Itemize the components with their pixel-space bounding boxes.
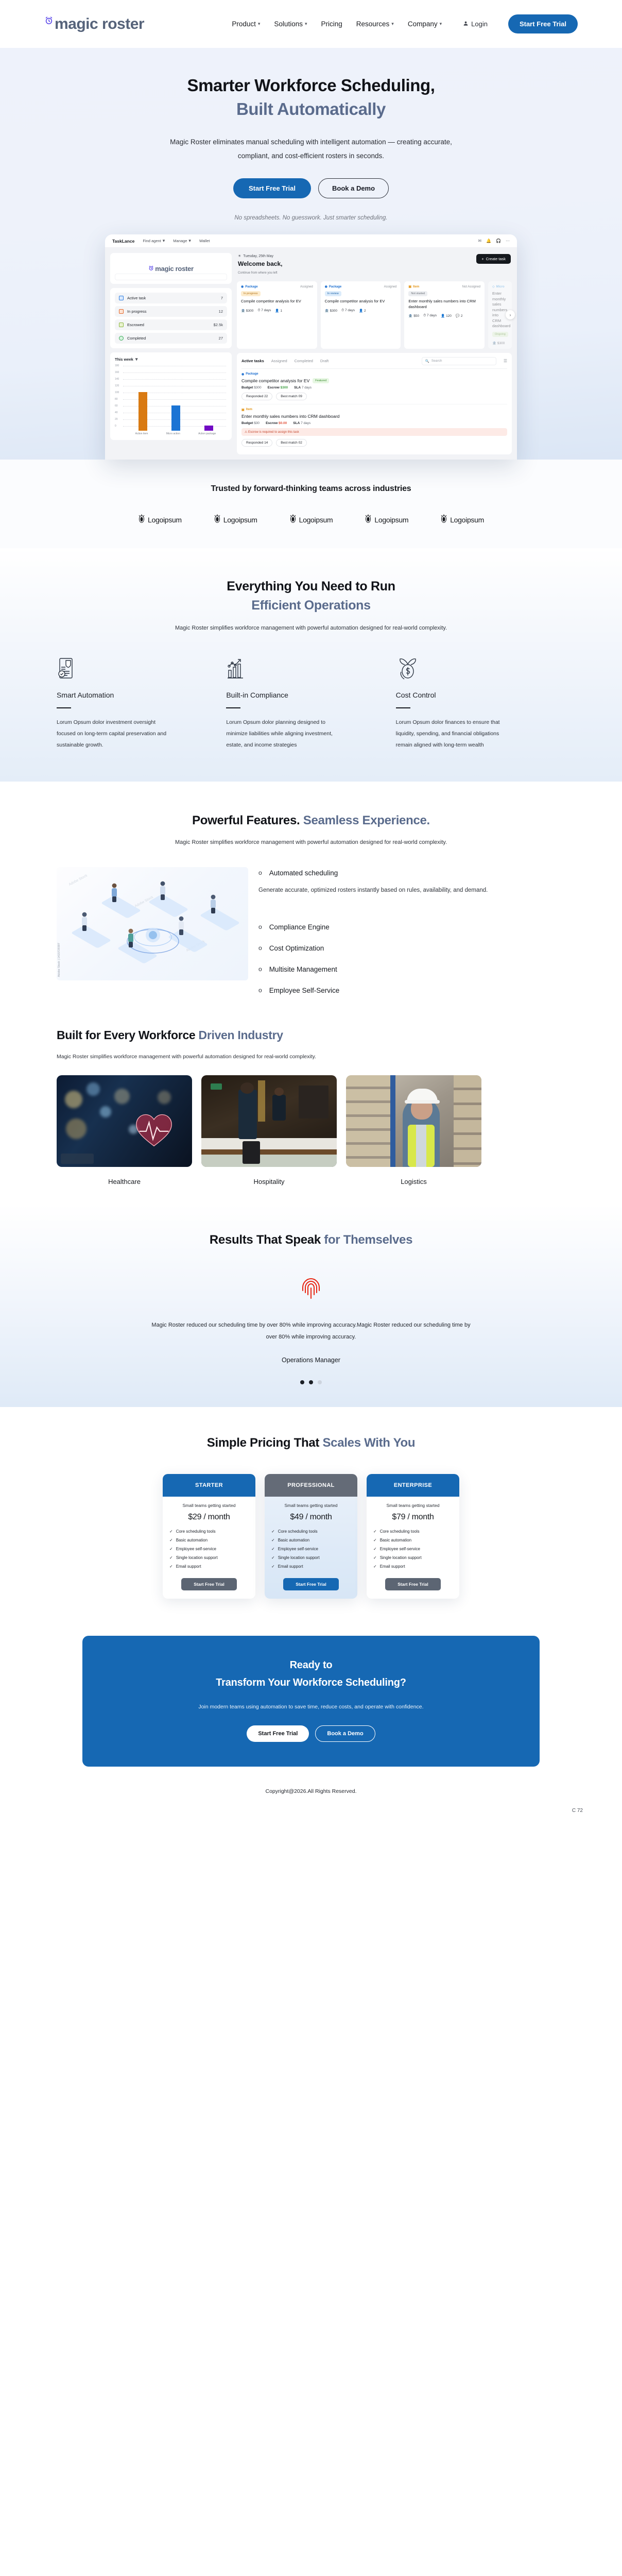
stat-value: 12 — [219, 309, 223, 314]
cta-banner: Ready to Transform Your Workforce Schedu… — [82, 1636, 540, 1767]
cta-wrapper: Ready to Transform Your Workforce Schedu… — [0, 1622, 622, 1767]
x-tick: Micro action — [166, 432, 180, 435]
logo-label: Logoipsum — [374, 516, 408, 524]
dashboard-preview: TaskLance Find agent ▾ Manage ▾ Wallet ✉… — [0, 234, 622, 460]
industries-subtitle: Magic Roster simplifies workforce manage… — [57, 1054, 565, 1060]
industry-card-healthcare[interactable]: Healthcare — [57, 1075, 192, 1185]
plan-tagline: Small teams getting started — [373, 1503, 453, 1508]
escrow-warning: ⚠ Escrow is required to assign this task — [241, 428, 507, 436]
task-type: ◉ Package — [241, 285, 258, 289]
plan-price: $29 / month — [169, 1513, 249, 1522]
feature-title: Cost Control — [396, 691, 565, 699]
feature-label: Automated scheduling — [269, 869, 338, 877]
list-item: ✓Core scheduling tools — [271, 1529, 351, 1534]
money-plant-icon — [396, 654, 565, 681]
powerful-subtitle: Magic Roster simplifies workforce manage… — [0, 839, 622, 845]
testimonial-title-accent: for Themselves — [324, 1233, 412, 1247]
watermark: Adobe Stock — [68, 874, 88, 887]
chevron-down-icon: ▾ — [391, 22, 394, 26]
dashboard-brand-card: magic roster — [110, 253, 232, 284]
bar-micro-action[interactable] — [171, 405, 180, 431]
logoipsum-mark-icon — [440, 514, 447, 526]
sla-value: 7 days — [301, 421, 310, 425]
task-title: Enter monthly sales numbers into CRM das… — [492, 291, 508, 329]
nav-label: Pricing — [321, 20, 342, 28]
nav-item-resources[interactable]: Resources ▾ — [356, 20, 394, 28]
feature-title: Smart Automation — [57, 691, 226, 699]
list-item: ✓Employee self-service — [169, 1547, 249, 1551]
budget-value: $300 — [254, 386, 261, 389]
plan-name: ENTERPRISE — [367, 1474, 459, 1497]
cta-start-trial-button[interactable]: Start Free Trial — [247, 1725, 309, 1742]
x-tick: Action item — [135, 432, 148, 435]
cta-title-line1: Ready to — [290, 1659, 333, 1671]
divider — [396, 707, 410, 708]
alarm-clock-icon — [44, 16, 54, 25]
task-sla: ⏱ 7 days — [257, 309, 271, 313]
task-card[interactable]: ◉ Package Assigned In review Compile com… — [321, 281, 401, 349]
hero-title-line1: Smarter Workforce Scheduling, — [187, 76, 435, 95]
escrow-value: $0.00 — [279, 421, 287, 425]
task-people: 👤 1 — [275, 309, 282, 313]
chevron-down-icon: ▾ — [163, 239, 165, 243]
feature-text: Lorum Opsum dolor planning designed to m… — [226, 717, 337, 751]
continue-label: Continue from where you left — [238, 272, 511, 275]
list-item: ✓Email support — [373, 1564, 453, 1569]
person-figure — [109, 883, 119, 903]
copyright-text: Copyright@2026.All Rights Reserved. — [0, 1788, 622, 1794]
stat-row-escrowed[interactable]: Escrowed $2.5k — [115, 319, 227, 330]
filter-icon[interactable]: ☰ — [504, 359, 507, 363]
list-item: ✓Email support — [169, 1564, 249, 1569]
corner-tag: C 72 — [0, 1794, 622, 1814]
circle-bullet-icon: o — [258, 923, 262, 930]
list-item: ✓Core scheduling tools — [373, 1529, 453, 1534]
partner-logo: Logoipsum — [365, 514, 408, 526]
cta-book-demo-button[interactable]: Book a Demo — [315, 1725, 375, 1742]
item-icon: ▣ — [241, 408, 245, 412]
heart-ecg-icon — [134, 1111, 174, 1147]
logistics-image — [346, 1075, 481, 1167]
hospitality-image — [201, 1075, 337, 1167]
circle-bullet-icon: o — [258, 987, 262, 994]
dashboard-nav-find-agent[interactable]: Find agent ▾ — [143, 239, 165, 243]
site-header: magic roster Product ▾ Solutions ▾ Prici… — [0, 0, 622, 48]
task-title: Compile competitor analysis for EV — [241, 299, 313, 304]
partner-logo: Logoipsum — [440, 514, 484, 526]
list-item: ✓Single location support — [169, 1555, 249, 1560]
list-item[interactable]: o Multisite Management — [258, 965, 565, 973]
carousel-dot-2[interactable] — [309, 1380, 313, 1384]
task-meta: Budget $30 Escrow $0.00 SLA 7 days — [241, 421, 507, 425]
sla-label: SLA — [293, 421, 300, 425]
table-row[interactable]: ▣ Item Enter monthly sales numbers into … — [241, 404, 507, 450]
pricing-card-professional: PROFESSIONAL Small teams getting started… — [265, 1474, 357, 1599]
partner-logo: Logoipsum — [138, 514, 182, 526]
budget-value: $30 — [254, 421, 260, 425]
hero-title-line2: Built Automatically — [236, 99, 386, 118]
plan-cta-button[interactable]: Start Free Trial — [181, 1578, 237, 1590]
person-figure — [126, 928, 136, 948]
user-icon — [463, 20, 469, 28]
best-match-button[interactable]: Best match 02 — [276, 439, 307, 447]
hero-book-demo-button[interactable]: Book a Demo — [318, 178, 389, 198]
industry-card-logistics[interactable]: Logistics — [346, 1075, 481, 1185]
features-title-line1: Everything You Need to Run — [227, 579, 395, 594]
features-title: Everything You Need to Run Efficient Ope… — [0, 577, 622, 616]
powerful-features-section: Powerful Features. Seamless Experience. … — [0, 782, 622, 1005]
task-assignment: Not Assigned — [462, 285, 480, 289]
industries-section: Built for Every Workforce Driven Industr… — [0, 1005, 622, 1204]
task-title: Compile competitor analysis for EV — [325, 299, 397, 304]
bank-icon — [119, 323, 124, 327]
site-footer: Copyright@2026.All Rights Reserved. C 72 — [0, 1767, 622, 1819]
y-tick: 40 — [115, 411, 118, 414]
hero-section: Smarter Workforce Scheduling, Built Auto… — [0, 48, 622, 460]
date-text: Tuesday, 25th May — [243, 255, 273, 258]
login-label: Login — [471, 20, 488, 28]
plan-tagline: Small teams getting started — [169, 1503, 249, 1508]
carousel-next-button[interactable]: › — [506, 310, 515, 319]
y-tick: 140 — [115, 378, 119, 381]
task-status-badge: In review — [325, 291, 341, 296]
brand-name: magic roster — [55, 16, 144, 32]
logo-label: Logoipsum — [223, 516, 257, 524]
task-comments: 💬 2 — [456, 314, 463, 318]
list-item: ✓Basic automation — [271, 1538, 351, 1543]
pricing-title: Simple Pricing That Scales With You — [0, 1434, 622, 1452]
fingerprint-icon — [301, 1277, 321, 1300]
industry-card-hospitality[interactable]: Hospitality — [201, 1075, 337, 1185]
headset-icon[interactable]: 🎧 — [496, 239, 501, 243]
main-nav: Product ▾ Solutions ▾ Pricing Resources … — [232, 14, 578, 33]
task-type: ▣ Item — [408, 285, 419, 289]
list-item[interactable]: o Employee Self-Service — [258, 987, 565, 994]
divider — [226, 707, 240, 708]
task-budget: 🏦 $300 — [325, 309, 337, 313]
hero-cta-group: Start Free Trial Book a Demo — [0, 178, 622, 198]
task-budget: 🏦 $50 — [408, 314, 419, 318]
hero-title: Smarter Workforce Scheduling, Built Auto… — [0, 74, 622, 121]
nav-label: Solutions — [274, 20, 303, 28]
task-type: ▣ Item — [241, 408, 507, 412]
dashboard-brand-name: magic roster — [155, 265, 193, 273]
nav-item-product[interactable]: Product ▾ — [232, 20, 260, 28]
escrow-label: Escrow — [266, 421, 278, 425]
best-match-button[interactable]: Best match 09 — [276, 393, 307, 400]
list-item: ✓Employee self-service — [271, 1547, 351, 1551]
nav-label: Resources — [356, 20, 390, 28]
list-item: ✓Employee self-service — [373, 1547, 453, 1551]
stat-value: $2.5k — [214, 323, 223, 327]
check-circle-icon: ✓ — [169, 1529, 173, 1534]
testimonial-title-black: Results That Speak — [210, 1233, 321, 1247]
dashboard-right-column: ☀ Tuesday, 25th May Welcome back, + Crea… — [237, 253, 512, 454]
stat-value: 27 — [219, 336, 223, 341]
nav-label: Product — [232, 20, 256, 28]
carousel-dot-3[interactable] — [318, 1380, 322, 1384]
check-circle-icon: ✓ — [373, 1555, 377, 1560]
task-budget: 🏦 $300 — [241, 309, 253, 313]
responded-button[interactable]: Responded 14 — [241, 439, 272, 447]
dashboard-topbar-icons: ✉ 🔔 🎧 ⋯ — [478, 239, 510, 243]
industries-title-black: Built for Every Workforce — [57, 1028, 195, 1042]
dashboard-app-name: TaskLance — [112, 239, 134, 244]
search-icon: 🔍 — [425, 359, 429, 363]
circle-bullet-icon: o — [258, 869, 262, 876]
logoipsum-mark-icon — [289, 514, 297, 526]
illustration-credit: Adobe Stock | 1415729397 — [58, 943, 61, 977]
list-item[interactable]: o Compliance Engine — [258, 923, 565, 931]
search-placeholder: Search — [431, 359, 442, 363]
table-row[interactable]: ◉ Package Compile competitor analysis fo… — [241, 369, 507, 404]
plan-features: ✓Core scheduling tools ✓Basic automation… — [373, 1529, 453, 1569]
list-item[interactable]: o Automated scheduling — [258, 869, 565, 877]
cta-title: Ready to Transform Your Workforce Schedu… — [98, 1656, 524, 1691]
person-figure — [176, 916, 186, 936]
industries-title: Built for Every Workforce Driven Industr… — [57, 1028, 565, 1042]
plan-features: ✓Core scheduling tools ✓Basic automation… — [271, 1529, 351, 1569]
task-card[interactable]: ◉ Package Assigned In progress Compile c… — [237, 281, 317, 349]
testimonial-role: Operations Manager — [0, 1357, 622, 1364]
bar-action-item[interactable] — [139, 392, 147, 431]
list-item: ✓Email support — [271, 1564, 351, 1569]
create-task-label: Create task — [486, 257, 506, 261]
stat-label: Active task — [127, 296, 146, 300]
micro-icon: ◇ — [492, 285, 495, 289]
escrow-value: $300 — [281, 386, 288, 389]
features-title-line2: Efficient Operations — [251, 598, 371, 613]
dashboard-chart-card: This week ▾ 180 160 140 120 100 80 60 — [110, 352, 232, 440]
stat-value: 7 — [221, 296, 223, 300]
chevron-down-icon: ▾ — [188, 239, 191, 243]
stat-row-in-progress[interactable]: In progress 12 — [115, 306, 227, 317]
chart-range-label: This week — [115, 357, 133, 362]
testimonial-title: Results That Speak for Themselves — [0, 1231, 622, 1249]
hero-subtitle: Magic Roster eliminates manual schedulin… — [167, 135, 455, 163]
dashboard-body: magic roster Active task 7 — [105, 248, 517, 460]
create-task-button[interactable]: + Create task — [476, 254, 511, 264]
check-circle-icon: ✓ — [271, 1564, 275, 1569]
y-tick: 100 — [115, 391, 119, 394]
chevron-down-icon: ▾ — [258, 22, 261, 26]
plan-features: ✓Core scheduling tools ✓Basic automation… — [169, 1529, 249, 1569]
plan-cta-button[interactable]: Start Free Trial — [385, 1578, 441, 1590]
industry-label: Healthcare — [57, 1178, 192, 1185]
industries-row: Healthcare Hospitality — [0, 1060, 622, 1185]
testimonial-quote: Magic Roster reduced our scheduling time… — [151, 1319, 471, 1343]
y-tick: 0 — [115, 425, 116, 428]
logoipsum-mark-icon — [214, 514, 221, 526]
featured-badge: Featured — [313, 378, 329, 383]
list-item: ✓Core scheduling tools — [169, 1529, 249, 1534]
bar-chart-growth-icon — [226, 654, 395, 681]
feature-text: Lorum Opsum dolor finances to ensure tha… — [396, 717, 507, 751]
check-circle-icon: ✓ — [271, 1529, 275, 1534]
task-people: 👤 120 — [441, 314, 452, 318]
continue-task-carousel: ◉ Package Assigned In progress Compile c… — [237, 281, 512, 349]
plan-price: $79 / month — [373, 1513, 453, 1522]
trusted-by-title: Trusted by forward-thinking teams across… — [0, 484, 622, 494]
task-type: ◉ Package — [325, 285, 342, 289]
industries-title-accent: Driven Industry — [199, 1028, 283, 1042]
powerful-title: Powerful Features. Seamless Experience. — [0, 811, 622, 830]
bar-chart: 180 160 140 120 100 80 60 40 20 0 — [115, 365, 227, 431]
features-grid: Smart Automation Lorum Opsum dolor inves… — [0, 654, 622, 751]
logo-label: Logoipsum — [148, 516, 182, 524]
pricing-grid: STARTER Small teams getting started $29 … — [0, 1474, 622, 1599]
list-item: ✓Basic automation — [169, 1538, 249, 1543]
industry-label: Logistics — [346, 1178, 481, 1185]
brand-logo[interactable]: magic roster — [44, 16, 144, 32]
cta-title-line2: Transform Your Workforce Scheduling? — [216, 1677, 406, 1688]
circle-bullet-icon: o — [258, 944, 262, 952]
dashboard-stats-card: Active task 7 In progress 12 Escrowed — [110, 288, 232, 348]
powerful-title-black: Powerful Features. — [192, 814, 300, 827]
more-icon[interactable]: ⋯ — [506, 239, 510, 243]
dashboard-window: TaskLance Find agent ▾ Manage ▾ Wallet ✉… — [105, 234, 517, 460]
list-item: ✓Single location support — [373, 1555, 453, 1560]
nav-item-company[interactable]: Company ▾ — [408, 20, 442, 28]
isometric-team-illustration: Adobe Stock | 1415729397 Adobe Stock Ado… — [57, 867, 248, 980]
budget-label: Budget — [241, 386, 253, 389]
package-icon: ◉ — [241, 285, 244, 289]
in-progress-icon — [119, 309, 124, 314]
powerful-body: Adobe Stock | 1415729397 Adobe Stock Ado… — [0, 845, 622, 994]
carousel-dots — [0, 1380, 622, 1384]
pricing-card-starter: STARTER Small teams getting started $29 … — [163, 1474, 255, 1599]
feature-text: Lorum Opsum dolor investment oversight f… — [57, 717, 167, 751]
features-section: Everything You Need to Run Efficient Ope… — [0, 548, 622, 782]
tab-active-tasks[interactable]: Active tasks — [241, 359, 264, 363]
chart-bars — [126, 370, 225, 431]
logo-row: Logoipsum Logoipsum Logoipsum Logoipsum … — [0, 514, 622, 526]
cta-button-group: Start Free Trial Book a Demo — [98, 1725, 524, 1742]
carousel-dot-1[interactable] — [300, 1380, 304, 1384]
task-card[interactable]: ▣ Item Not Assigned Not started Enter mo… — [404, 281, 485, 349]
item-icon: ▣ — [408, 285, 411, 289]
feature-card-built-in-compliance: Built-in Compliance Lorum Opsum dolor pl… — [226, 654, 395, 751]
task-sla: ⏱ 7 days — [423, 314, 437, 318]
active-task-icon — [119, 296, 124, 300]
responded-button[interactable]: Responded 22 — [241, 393, 272, 400]
task-type: ◉ Package — [241, 372, 507, 376]
mail-icon[interactable]: ✉ — [478, 239, 481, 243]
testimonial-section: Results That Speak for Themselves Magic … — [0, 1204, 622, 1407]
stat-row-active-task[interactable]: Active task 7 — [115, 293, 227, 303]
dashboard-welcome: ☀ Tuesday, 25th May Welcome back, + Crea… — [237, 253, 512, 275]
partner-logo: Logoipsum — [289, 514, 333, 526]
healthcare-image — [57, 1075, 192, 1167]
nav-label: Find agent — [143, 239, 161, 243]
list-item[interactable]: o Cost Optimization — [258, 944, 565, 952]
dashboard-nav-manage[interactable]: Manage ▾ — [173, 239, 191, 243]
task-search-input[interactable]: 🔍 Search — [422, 357, 496, 365]
tab-completed[interactable]: Completed — [295, 359, 313, 363]
feature-title: Built-in Compliance — [226, 691, 395, 699]
y-tick: 80 — [115, 398, 118, 401]
check-circle-icon: ✓ — [271, 1555, 275, 1560]
tab-assigned[interactable]: Assigned — [271, 359, 287, 363]
sla-value: 7 days — [302, 386, 312, 389]
bell-icon[interactable]: 🔔 — [486, 239, 491, 243]
dashboard-welcome-title: Welcome back, — [238, 260, 282, 267]
task-people: 👤 2 — [359, 309, 366, 313]
nav-label: Manage — [173, 239, 187, 243]
sun-icon: ☀ — [238, 254, 241, 258]
feature-label: Employee Self-Service — [269, 987, 340, 994]
chevron-down-icon: ▾ — [440, 22, 442, 26]
dashboard-search-field[interactable] — [115, 274, 227, 280]
dashboard-task-list: Active tasks Assigned Completed Draft 🔍 … — [237, 353, 512, 454]
dashboard-date: ☀ Tuesday, 25th May — [238, 254, 282, 258]
task-meta: Budget $300 Escrow $300 SLA 7 days — [241, 386, 507, 389]
y-tick: 20 — [115, 418, 118, 421]
nav-item-solutions[interactable]: Solutions ▾ — [274, 20, 307, 28]
divider — [57, 707, 71, 708]
check-circle-icon: ✓ — [373, 1564, 377, 1569]
pricing-card-enterprise: ENTERPRISE Small teams getting started $… — [367, 1474, 459, 1599]
logo-label: Logoipsum — [299, 516, 333, 524]
package-icon: ◉ — [325, 285, 327, 289]
trusted-by-section: Trusted by forward-thinking teams across… — [0, 460, 622, 548]
circle-bullet-icon: o — [258, 965, 262, 973]
plan-cta-button[interactable]: Start Free Trial — [283, 1578, 339, 1590]
y-tick: 60 — [115, 404, 118, 408]
alarm-clock-icon — [148, 265, 154, 272]
dashboard-topbar: TaskLance Find agent ▾ Manage ▾ Wallet ✉… — [105, 234, 517, 248]
tab-draft[interactable]: Draft — [320, 359, 329, 363]
plus-icon: + — [481, 257, 483, 261]
bar-action-package[interactable] — [204, 426, 213, 431]
check-circle-icon: ✓ — [373, 1538, 377, 1543]
hero-note: No spreadsheets. No guesswork. Just smar… — [0, 215, 622, 221]
y-tick: 120 — [115, 384, 119, 387]
industry-label: Hospitality — [201, 1178, 337, 1185]
stat-row-completed[interactable]: Completed 27 — [115, 333, 227, 344]
package-icon: ◉ — [241, 372, 244, 376]
chart-x-labels: Action item Micro action Action package — [115, 432, 227, 435]
y-tick: 160 — [115, 371, 119, 374]
login-link[interactable]: Login — [463, 20, 488, 28]
check-circle-icon — [119, 336, 124, 341]
chart-range-selector[interactable]: This week ▾ — [115, 357, 227, 362]
dashboard-nav-wallet[interactable]: Wallet — [199, 239, 210, 243]
budget-label: Budget — [241, 421, 253, 425]
stat-label: Escrowed — [127, 323, 144, 327]
check-circle-icon: ✓ — [169, 1538, 173, 1543]
y-tick: 180 — [115, 364, 119, 367]
stat-label: Completed — [127, 336, 146, 341]
task-status-badge: Not started — [408, 291, 427, 296]
plan-name: PROFESSIONAL — [265, 1474, 357, 1497]
pricing-title-black: Simple Pricing That — [207, 1436, 319, 1450]
partner-logo: Logoipsum — [214, 514, 257, 526]
nav-item-pricing[interactable]: Pricing — [321, 20, 342, 28]
hero-start-trial-button[interactable]: Start Free Trial — [233, 178, 311, 198]
powerful-feature-list: o Automated scheduling Generate accurate… — [258, 867, 565, 994]
dashboard-left-column: magic roster Active task 7 — [110, 253, 232, 454]
logoipsum-mark-icon — [365, 514, 372, 526]
feature-label: Cost Optimization — [269, 944, 324, 952]
logoipsum-mark-icon — [138, 514, 145, 526]
task-status-badge: In progress — [241, 291, 261, 296]
feature-card-smart-automation: Smart Automation Lorum Opsum dolor inves… — [57, 654, 226, 751]
feature-card-cost-control: Cost Control Lorum Opsum dolor finances … — [396, 654, 565, 751]
start-free-trial-button[interactable]: Start Free Trial — [508, 14, 578, 33]
person-figure — [79, 911, 90, 932]
list-item: ✓Single location support — [271, 1555, 351, 1560]
